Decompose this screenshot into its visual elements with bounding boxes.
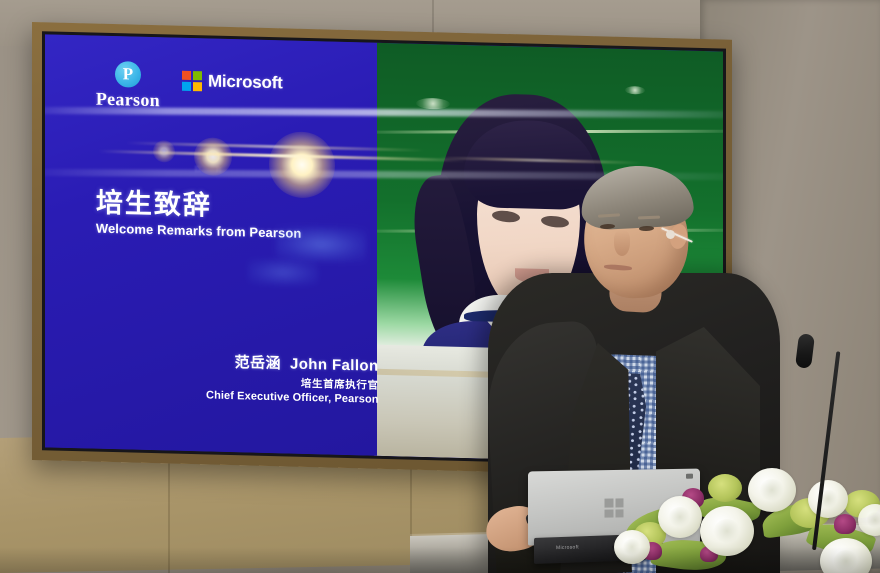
slide-title-cn: 培生致辞 bbox=[96, 188, 302, 223]
slide-ghost-text: 培 生教 育 bbox=[194, 150, 228, 177]
flower-rose-6 bbox=[614, 530, 650, 564]
wall-lower-seam-1 bbox=[168, 448, 170, 573]
flower-filler-1 bbox=[708, 474, 742, 502]
slide-logo-row: P Pearson Microsoft bbox=[96, 60, 283, 114]
flower-arrangement bbox=[612, 460, 880, 573]
slide-speaker-name-cn: 范岳涵 bbox=[235, 355, 281, 373]
dock-label: Microsoft bbox=[556, 544, 579, 551]
microsoft-logo: Microsoft bbox=[182, 71, 283, 94]
flower-rose-2 bbox=[700, 506, 754, 556]
speaker-hair bbox=[579, 163, 694, 231]
pearson-mark-icon: P bbox=[115, 61, 141, 88]
microsoft-wordmark: Microsoft bbox=[208, 71, 283, 93]
flower-orchid-3 bbox=[834, 514, 856, 534]
screenshot-root: P Pearson Microsoft 培 生教 育 培生致辞 bbox=[0, 0, 880, 573]
microsoft-squares-icon bbox=[182, 71, 202, 92]
slide-speaker-name: 范岳涵 John Fallon bbox=[206, 351, 379, 376]
flower-rose-3 bbox=[748, 468, 796, 512]
slide-speaker-name-en: John Fallon bbox=[290, 356, 379, 375]
flower-rose-4 bbox=[808, 480, 848, 518]
pearson-wordmark: Pearson bbox=[96, 88, 160, 111]
pearson-logo: P Pearson bbox=[96, 60, 160, 111]
slide-title-block: 培生致辞 Welcome Remarks from Pearson bbox=[96, 188, 302, 241]
headset-mic-earpiece-icon bbox=[666, 230, 675, 239]
speaker-nose bbox=[614, 230, 630, 256]
flower-rose-1 bbox=[658, 496, 702, 538]
slide-speaker-block: 范岳涵 John Fallon 培生首席执行官 Chief Executive … bbox=[206, 351, 379, 406]
